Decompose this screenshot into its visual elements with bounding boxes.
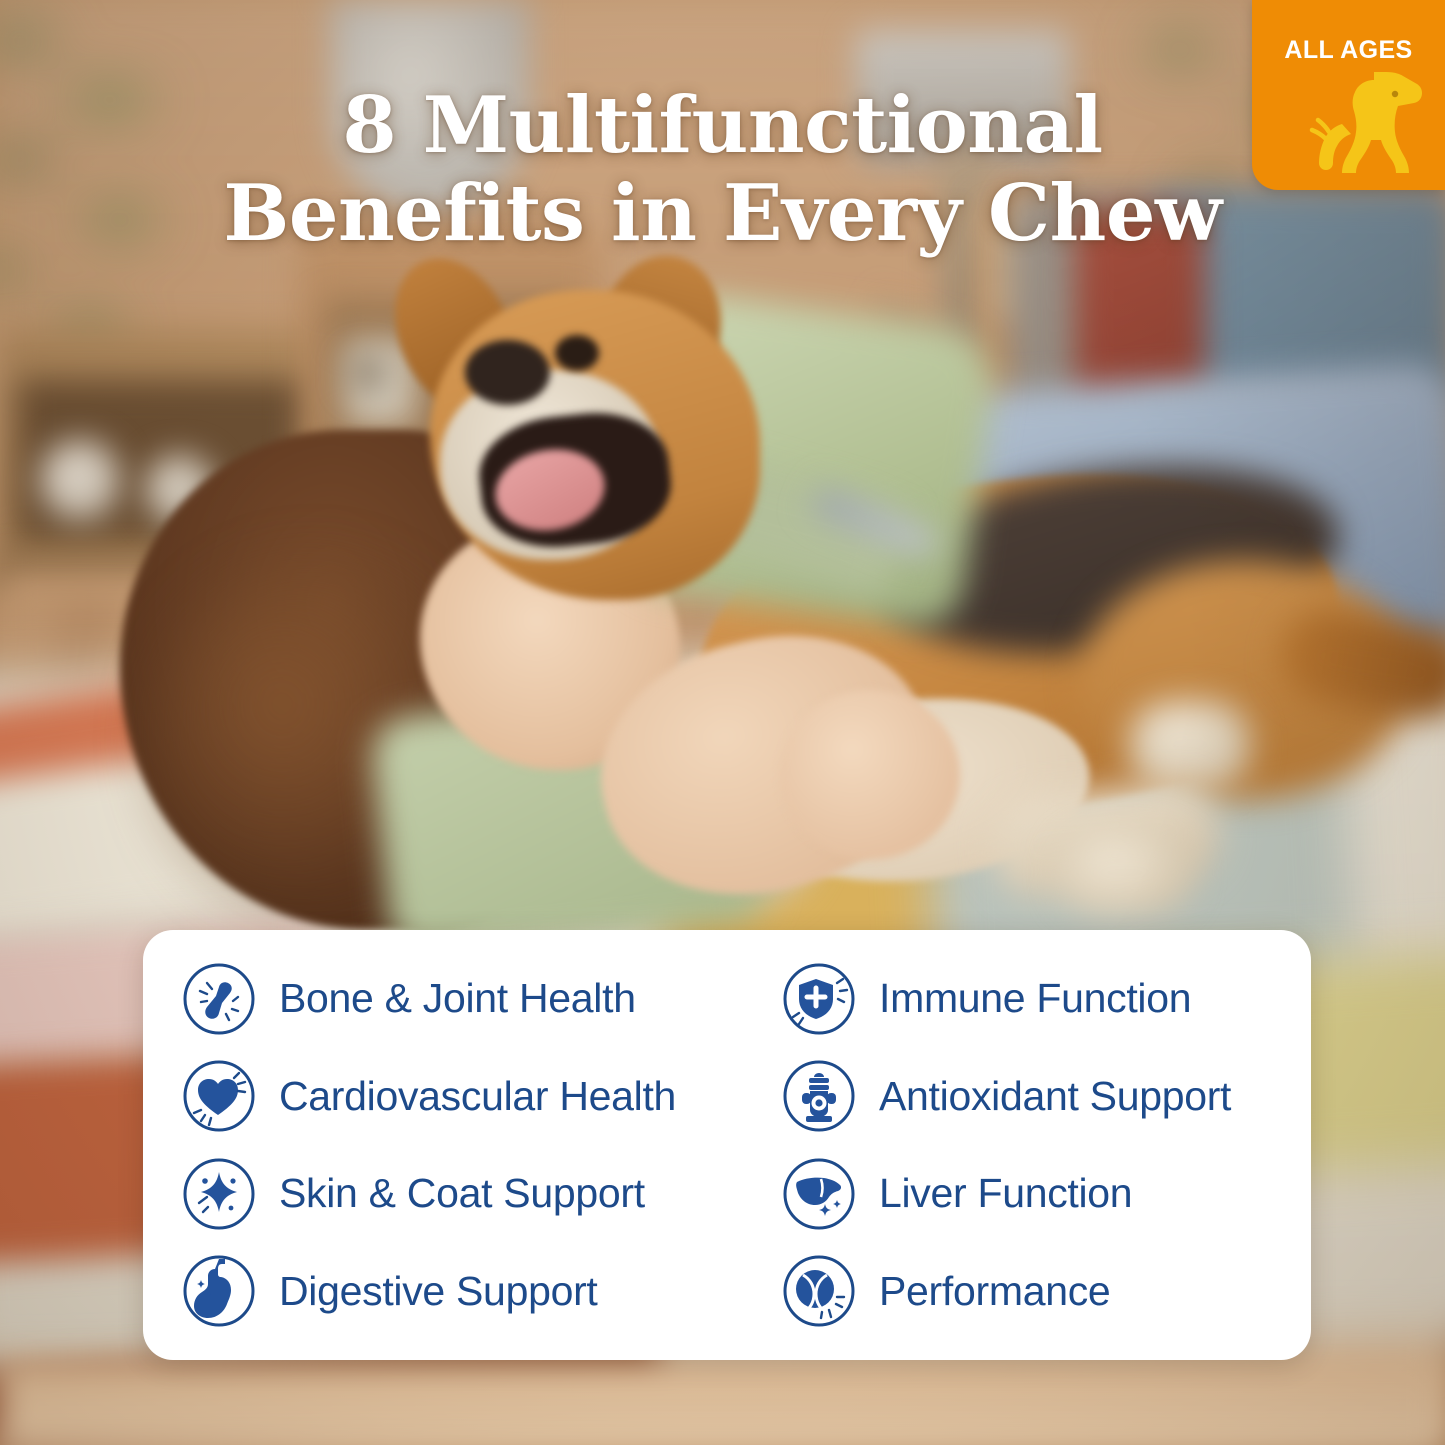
- benefits-grid: Bone & Joint Health Immune Function: [143, 950, 1311, 1340]
- stomach-icon: [181, 1253, 257, 1329]
- liver-icon: [781, 1156, 857, 1232]
- headline-line-2: Benefits in Every Chew: [60, 170, 1385, 258]
- benefits-card: Bone & Joint Health Immune Function: [143, 930, 1311, 1360]
- heart-icon: [181, 1058, 257, 1134]
- shield-plus-icon: [781, 961, 857, 1037]
- benefit-label: Antioxidant Support: [879, 1073, 1231, 1120]
- product-lifestyle-image: 8 Multifunctional Benefits in Every Chew…: [0, 0, 1445, 1445]
- all-ages-label: ALL AGES: [1252, 36, 1445, 65]
- benefit-item-antioxidant-support: Antioxidant Support: [781, 1048, 1277, 1146]
- benefit-label: Digestive Support: [279, 1268, 598, 1315]
- sparkle-star-icon: [181, 1156, 257, 1232]
- sitting-dog-icon: [1282, 62, 1422, 182]
- tennis-ball-icon: [781, 1253, 857, 1329]
- bone-joint-icon: [181, 961, 257, 1037]
- benefit-label: Liver Function: [879, 1170, 1132, 1217]
- benefit-item-digestive-support: Digestive Support: [181, 1243, 781, 1341]
- benefit-item-skin-coat-support: Skin & Coat Support: [181, 1145, 781, 1243]
- benefit-item-cardiovascular-health: Cardiovascular Health: [181, 1048, 781, 1146]
- headline: 8 Multifunctional Benefits in Every Chew: [0, 82, 1445, 258]
- benefit-item-bone-joint-health: Bone & Joint Health: [181, 950, 781, 1048]
- fire-hydrant-icon: [781, 1058, 857, 1134]
- benefit-item-liver-function: Liver Function: [781, 1145, 1277, 1243]
- all-ages-badge: ALL AGES: [1252, 0, 1445, 190]
- benefit-label: Immune Function: [879, 975, 1191, 1022]
- benefit-item-immune-function: Immune Function: [781, 950, 1277, 1048]
- headline-line-1: 8 Multifunctional: [342, 80, 1102, 171]
- benefit-label: Cardiovascular Health: [279, 1073, 676, 1120]
- benefit-label: Performance: [879, 1268, 1110, 1315]
- benefit-item-performance: Performance: [781, 1243, 1277, 1341]
- benefit-label: Bone & Joint Health: [279, 975, 636, 1022]
- benefit-label: Skin & Coat Support: [279, 1170, 645, 1217]
